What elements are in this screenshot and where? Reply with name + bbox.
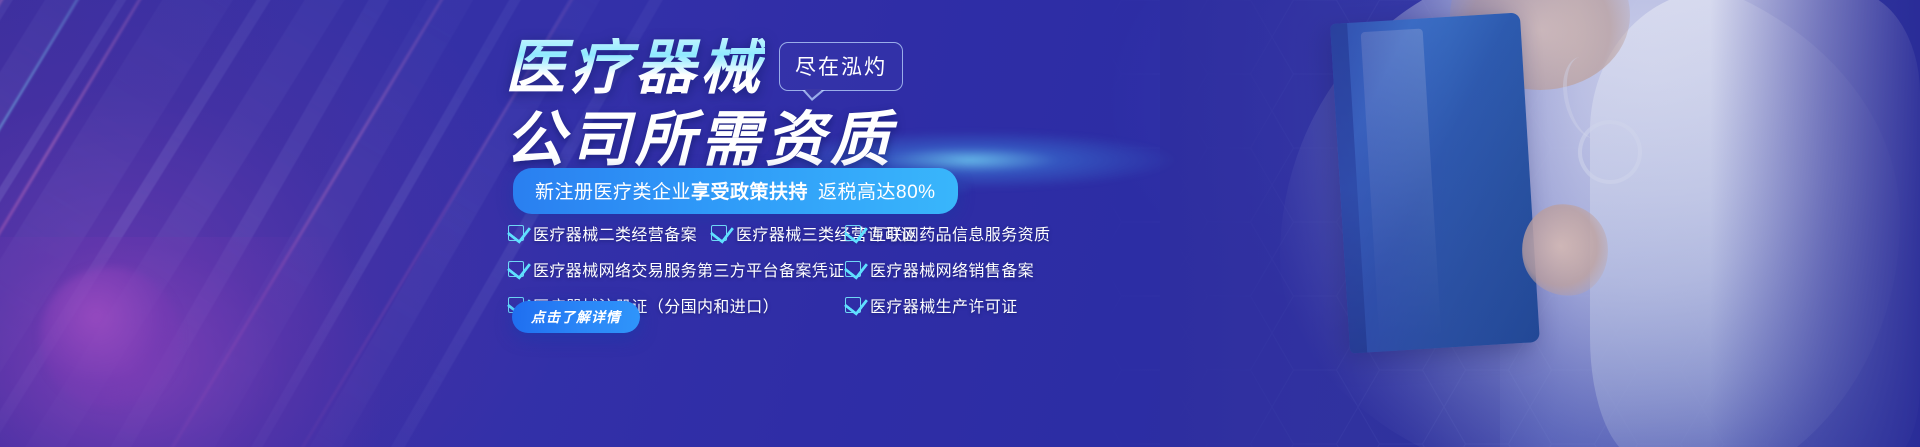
list-row: 医疗器械生产许可证 xyxy=(845,291,1145,319)
subtitle-text-emphasis: 享受政策扶持 xyxy=(691,177,808,204)
headline-secondary: 公司所需资质 xyxy=(505,110,1065,170)
list-item-label: 医疗器械网络交易服务第三方平台备案凭证 xyxy=(533,257,845,281)
list-item-label: 互联网药品信息服务资质 xyxy=(870,221,1050,245)
list-item[interactable]: 医疗器械二类经营备案 xyxy=(508,221,697,245)
list-item[interactable]: 互联网药品信息服务资质 xyxy=(845,221,1050,245)
brand-callout-bubble: 尽在泓灼 xyxy=(779,42,903,91)
list-item[interactable]: 医疗器械网络交易服务第三方平台备案凭证 xyxy=(508,257,845,281)
list-row: 互联网药品信息服务资质 xyxy=(845,219,1145,247)
subtitle-text-part1: 新注册医疗类企业 xyxy=(535,177,691,204)
qualification-list-right: 互联网药品信息服务资质 医疗器械网络销售备案 医疗器械生产许可证 xyxy=(845,219,1145,327)
checkbox-checked-icon xyxy=(508,261,524,277)
checkbox-checked-icon xyxy=(711,225,727,241)
list-item-label: 医疗器械网络销售备案 xyxy=(870,257,1034,281)
checkbox-checked-icon xyxy=(508,225,524,241)
checkbox-checked-icon xyxy=(845,261,861,277)
headline-block: 医疗器械 尽在泓灼 公司所需资质 xyxy=(505,38,1065,170)
subtitle-pill: 新注册医疗类企业 享受政策扶持 返税高达80% xyxy=(513,168,958,214)
headline-row-1: 医疗器械 尽在泓灼 xyxy=(505,38,1065,98)
list-item-label: 医疗器械二类经营备案 xyxy=(533,221,697,245)
list-item-label: 医疗器械生产许可证 xyxy=(870,293,1018,317)
list-item[interactable]: 医疗器械网络销售备案 xyxy=(845,257,1034,281)
checkbox-checked-icon xyxy=(845,225,861,241)
subtitle-text-part2: 返税高达80% xyxy=(818,177,936,204)
list-row: 医疗器械网络销售备案 xyxy=(845,255,1145,283)
banner-content: 医疗器械 尽在泓灼 公司所需资质 新注册医疗类企业 享受政策扶持 返税高达80%… xyxy=(0,0,1920,447)
list-item[interactable]: 医疗器械生产许可证 xyxy=(845,293,1018,317)
headline-primary: 医疗器械 xyxy=(505,38,765,98)
checkbox-checked-icon xyxy=(845,297,861,313)
banner-root: 医疗器械 尽在泓灼 公司所需资质 新注册医疗类企业 享受政策扶持 返税高达80%… xyxy=(0,0,1920,447)
learn-more-button[interactable]: 点击了解详情 xyxy=(512,301,640,333)
